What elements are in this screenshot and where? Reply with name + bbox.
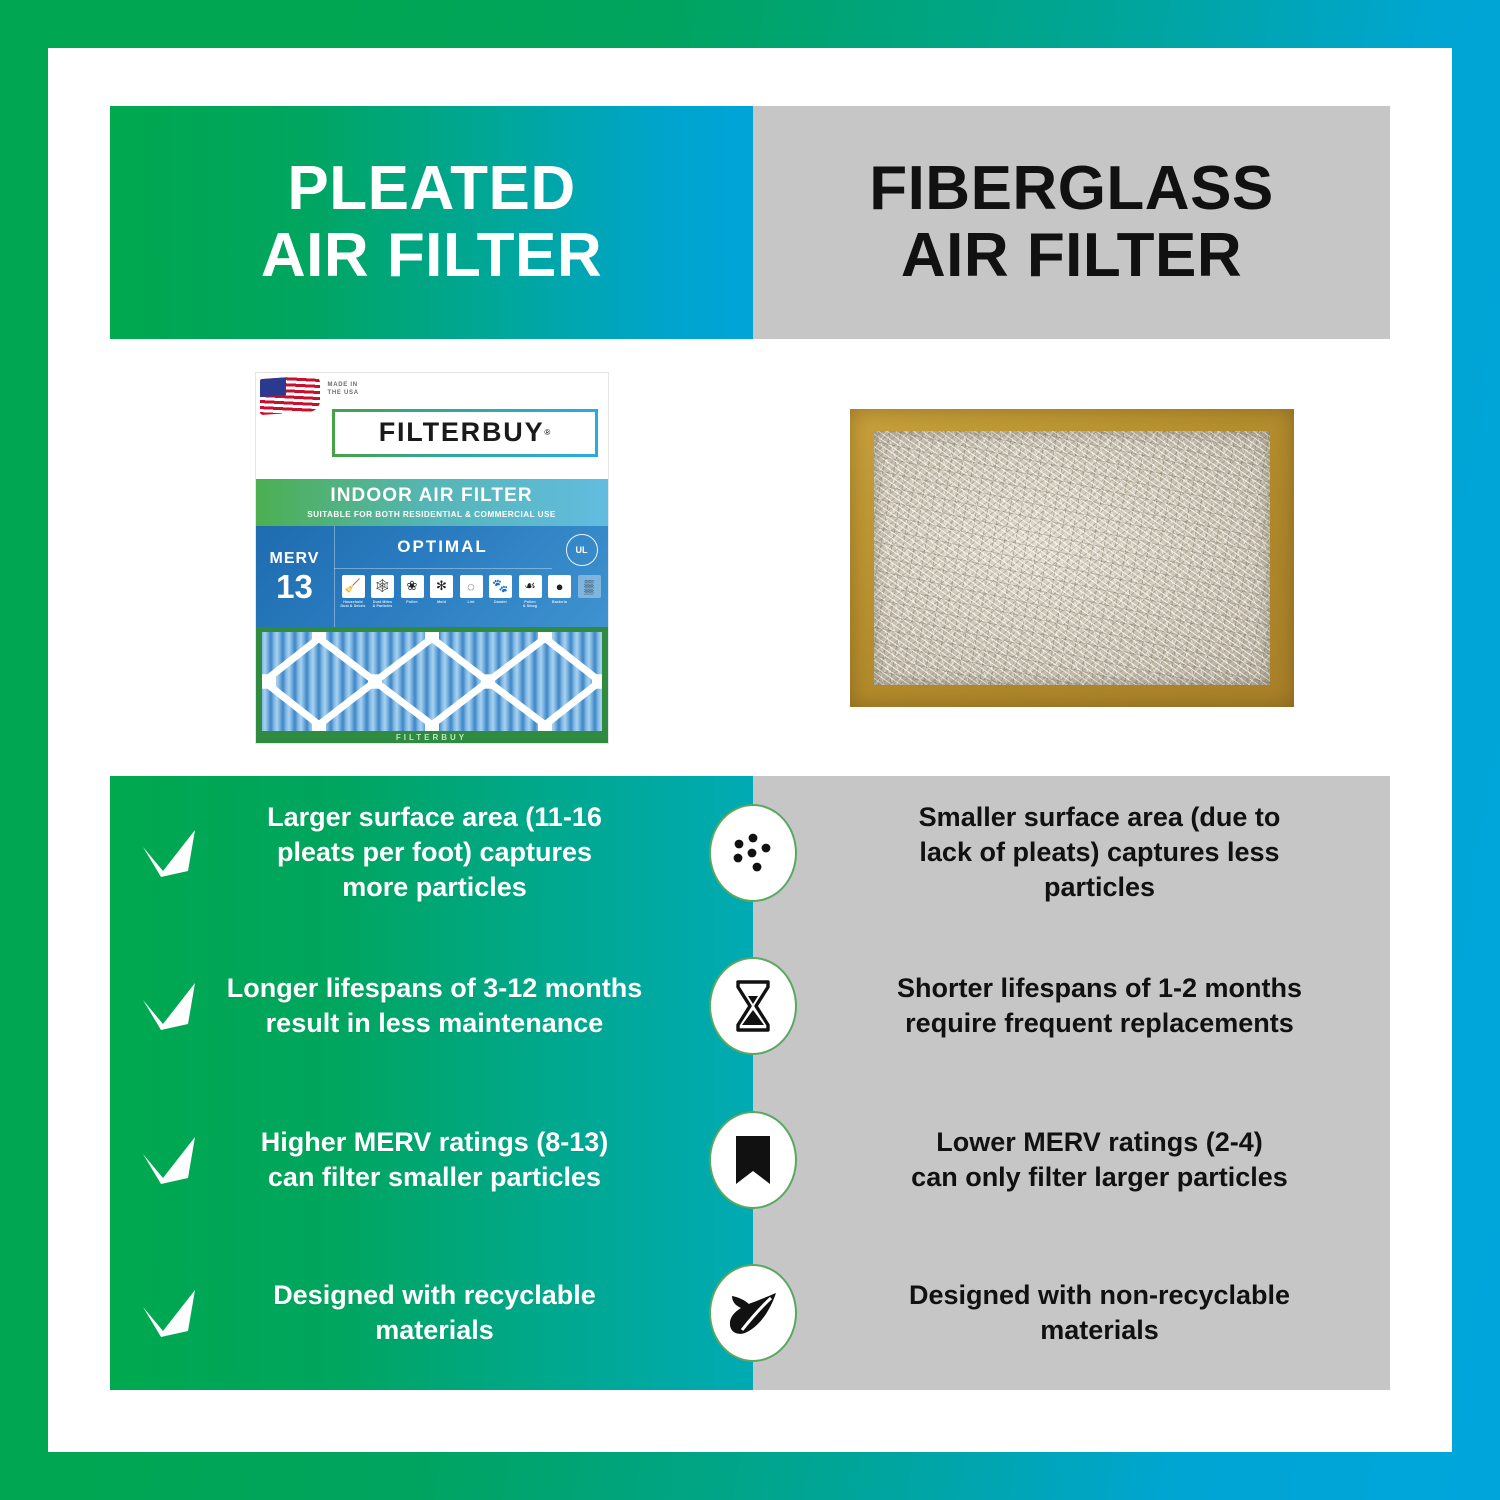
usa-flag-icon bbox=[260, 374, 320, 414]
ul-mark-text: UL bbox=[566, 534, 598, 566]
household-dust-icon: 🧹 bbox=[342, 575, 365, 598]
row-right-text: Smaller surface area (due to lack of ple… bbox=[919, 800, 1281, 905]
feature-caption: Dust Mites & Particles bbox=[369, 600, 396, 609]
row-right-cell: Shorter lifespans of 1-2 months require … bbox=[753, 971, 1390, 1041]
pleated-box-top: MADE IN THE USA FILTERBUY® bbox=[256, 373, 608, 479]
pleated-title: PLEATED AIR FILTER bbox=[261, 156, 602, 290]
made-in-usa-label: MADE IN THE USA bbox=[328, 381, 359, 397]
feature-icon-lint: ◌ Lint bbox=[458, 575, 485, 604]
filterbuy-logo: FILTERBUY® bbox=[332, 409, 598, 457]
merv-value: 13 bbox=[276, 570, 313, 603]
inactive-feature-icon: ▒ bbox=[578, 575, 601, 598]
comparison-panel: Larger surface area (11-16 pleats per fo… bbox=[110, 776, 1390, 1390]
row-left-text: Larger surface area (11-16 pleats per fo… bbox=[200, 800, 669, 905]
feature-icon-bacteria: ● Bacteria bbox=[546, 575, 573, 604]
row-right-text: Designed with non-recyclable materials bbox=[909, 1278, 1290, 1348]
suitable-use-label: SUITABLE FOR BOTH RESIDENTIAL & COMMERCI… bbox=[307, 510, 556, 519]
registered-mark: ® bbox=[544, 428, 550, 437]
row-right-cell: Designed with non-recyclable materials bbox=[753, 1278, 1390, 1348]
feature-caption: Lint bbox=[458, 600, 485, 604]
fiberglass-image-cell bbox=[753, 339, 1390, 776]
pleated-box-band: INDOOR AIR FILTER SUITABLE FOR BOTH RESI… bbox=[256, 479, 608, 526]
row-right-cell: Lower MERV ratings (2-4) can only filter… bbox=[753, 1125, 1390, 1195]
smog-icon: ☙ bbox=[519, 575, 542, 598]
fiberglass-mesh bbox=[874, 431, 1270, 685]
feature-caption: Household Dust & Debris bbox=[340, 600, 367, 609]
indoor-air-filter-label: INDOOR AIR FILTER bbox=[330, 485, 532, 507]
comparison-row: Higher MERV ratings (8-13) can filter sm… bbox=[110, 1083, 1390, 1237]
product-images-band: MADE IN THE USA FILTERBUY® INDOOR AIR FI… bbox=[110, 339, 1390, 776]
diamond-support-grid bbox=[262, 632, 602, 731]
feature-caption: Mold bbox=[428, 600, 455, 604]
feature-icon-household-dust: 🧹 Household Dust & Debris bbox=[340, 575, 367, 609]
row-right-text: Shorter lifespans of 1-2 months require … bbox=[897, 971, 1302, 1041]
fiberglass-title: FIBERGLASS AIR FILTER bbox=[869, 156, 1274, 290]
row-left-cell: Longer lifespans of 3-12 months result i… bbox=[110, 971, 753, 1041]
hourglass-icon bbox=[709, 957, 797, 1055]
feature-icon-mold: ✻ Mold bbox=[428, 575, 455, 604]
pleated-image-cell: MADE IN THE USA FILTERBUY® INDOOR AIR FI… bbox=[110, 339, 753, 776]
merv-block: MERV 13 bbox=[256, 526, 335, 627]
pleated-box-specs: MERV 13 OPTIMAL UL 🧹 Household Dust & De… bbox=[256, 526, 608, 627]
header-fiberglass: FIBERGLASS AIR FILTER bbox=[753, 106, 1390, 339]
feature-icon-pollen-smog: ☙ Pollen & Smog bbox=[517, 575, 544, 609]
feature-icon-disabled: ▒ bbox=[576, 575, 603, 600]
row-right-text: Lower MERV ratings (2-4) can only filter… bbox=[911, 1125, 1288, 1195]
filter-feature-icon-row: 🧹 Household Dust & Debris 🕸 Dust Mites &… bbox=[334, 569, 608, 627]
row-left-text: Designed with recyclable materials bbox=[200, 1278, 669, 1348]
feature-caption: Pollen & Smog bbox=[517, 600, 544, 609]
ul-certification-icon: UL bbox=[560, 532, 604, 568]
row-left-cell: Higher MERV ratings (8-13) can filter sm… bbox=[110, 1125, 753, 1195]
comparison-row: Designed with recyclable materials Desig… bbox=[110, 1237, 1390, 1391]
fiberglass-filter-product-image bbox=[850, 409, 1294, 707]
bacteria-icon: ● bbox=[548, 575, 571, 598]
mold-icon: ✻ bbox=[430, 575, 453, 598]
check-mark-icon bbox=[138, 980, 200, 1032]
comparison-row: Longer lifespans of 3-12 months result i… bbox=[110, 930, 1390, 1084]
feature-icon-pollen: ❀ Pollen bbox=[399, 575, 426, 604]
bookmark-icon bbox=[709, 1111, 797, 1209]
pleated-filter-product-image: MADE IN THE USA FILTERBUY® INDOOR AIR FI… bbox=[256, 373, 608, 743]
filterbuy-logo-text: FILTERBUY bbox=[379, 417, 545, 448]
comparison-rows: Larger surface area (11-16 pleats per fo… bbox=[110, 776, 1390, 1390]
comparison-row: Larger surface area (11-16 pleats per fo… bbox=[110, 776, 1390, 930]
row-left-cell: Larger surface area (11-16 pleats per fo… bbox=[110, 800, 753, 905]
tier-label: OPTIMAL bbox=[334, 526, 552, 569]
feature-icon-dust-mites: 🕸 Dust Mites & Particles bbox=[369, 575, 396, 609]
row-left-text: Longer lifespans of 3-12 months result i… bbox=[200, 971, 669, 1041]
check-mark-icon bbox=[138, 1134, 200, 1186]
row-left-cell: Designed with recyclable materials bbox=[110, 1278, 753, 1348]
header-row: PLEATED AIR FILTER FIBERGLASS AIR FILTER bbox=[110, 106, 1390, 339]
feature-caption: Bacteria bbox=[546, 600, 573, 604]
lint-icon: ◌ bbox=[460, 575, 483, 598]
feature-caption: Dander bbox=[487, 600, 514, 604]
check-mark-icon bbox=[138, 1287, 200, 1339]
filter-frame-brand: FILTERBUY bbox=[256, 733, 608, 742]
dander-icon: 🐾 bbox=[489, 575, 512, 598]
row-left-text: Higher MERV ratings (8-13) can filter sm… bbox=[200, 1125, 669, 1195]
leaf-icon bbox=[709, 1264, 797, 1362]
particles-icon bbox=[709, 804, 797, 902]
infographic-canvas: PLEATED AIR FILTER FIBERGLASS AIR FILTER… bbox=[0, 0, 1500, 1500]
merv-label: MERV bbox=[270, 550, 320, 568]
header-pleated: PLEATED AIR FILTER bbox=[110, 106, 753, 339]
feature-icon-dander: 🐾 Dander bbox=[487, 575, 514, 604]
feature-caption: Pollen bbox=[399, 600, 426, 604]
check-mark-icon bbox=[138, 827, 200, 879]
dust-mite-icon: 🕸 bbox=[371, 575, 394, 598]
row-right-cell: Smaller surface area (due to lack of ple… bbox=[753, 800, 1390, 905]
pleated-media-area: FILTERBUY bbox=[256, 627, 608, 743]
pollen-icon: ❀ bbox=[401, 575, 424, 598]
white-board: PLEATED AIR FILTER FIBERGLASS AIR FILTER… bbox=[48, 48, 1452, 1452]
blue-pleats bbox=[262, 632, 602, 731]
